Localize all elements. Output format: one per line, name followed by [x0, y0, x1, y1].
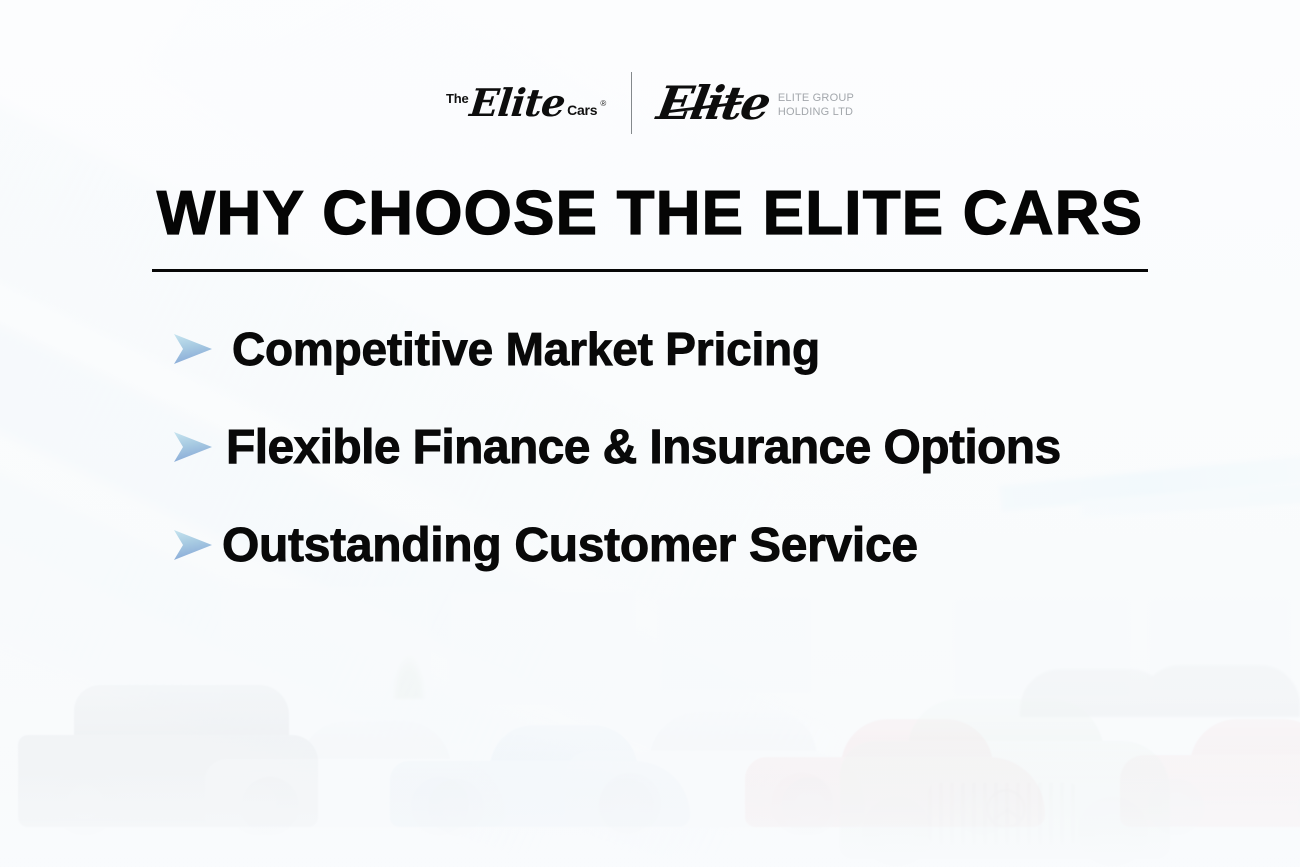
slide-content: The Elite Cars ® Elite ELITE GROUPHOLDIN… — [0, 0, 1300, 867]
benefits-list: Competitive Market Pricing Flexible Fina… — [0, 318, 1300, 576]
list-item: Flexible Finance & Insurance Options — [0, 416, 1300, 478]
list-item-label: Flexible Finance & Insurance Options — [226, 420, 1061, 475]
logo-elite-group-script: Elite — [654, 80, 773, 126]
page-title: WHY CHOOSE THE ELITE CARS — [0, 182, 1300, 245]
list-item: Outstanding Customer Service — [0, 514, 1300, 576]
arrow-right-icon — [172, 332, 214, 366]
arrow-right-icon — [172, 430, 214, 464]
logo-subtitle-line2: HOLDING LTD — [778, 106, 853, 118]
list-item-label: Outstanding Customer Service — [222, 518, 918, 573]
logo-the-elite-cars: The Elite Cars ® — [446, 84, 631, 122]
logo-bar: The Elite Cars ® Elite ELITE GROUPHOLDIN… — [0, 72, 1300, 134]
logo-elite-script: Elite — [468, 84, 567, 122]
registered-trademark-icon: ® — [600, 99, 606, 108]
title-underline-rule — [152, 269, 1148, 272]
logo-divider — [631, 72, 632, 134]
list-item-label: Competitive Market Pricing — [232, 322, 820, 376]
arrow-right-icon — [172, 528, 214, 562]
logo-prefix-the: The — [446, 91, 469, 106]
logo-suffix-cars: Cars — [567, 102, 597, 118]
logo-subtitle-line1: ELITE GROUP — [778, 92, 854, 104]
logo-elite-group-holding: Elite ELITE GROUPHOLDING LTD — [658, 80, 854, 126]
logo-elite-group-subtitle: ELITE GROUPHOLDING LTD — [778, 91, 854, 119]
list-item: Competitive Market Pricing — [0, 318, 1300, 380]
logo-elite-group-script-text: Elite — [654, 76, 774, 130]
